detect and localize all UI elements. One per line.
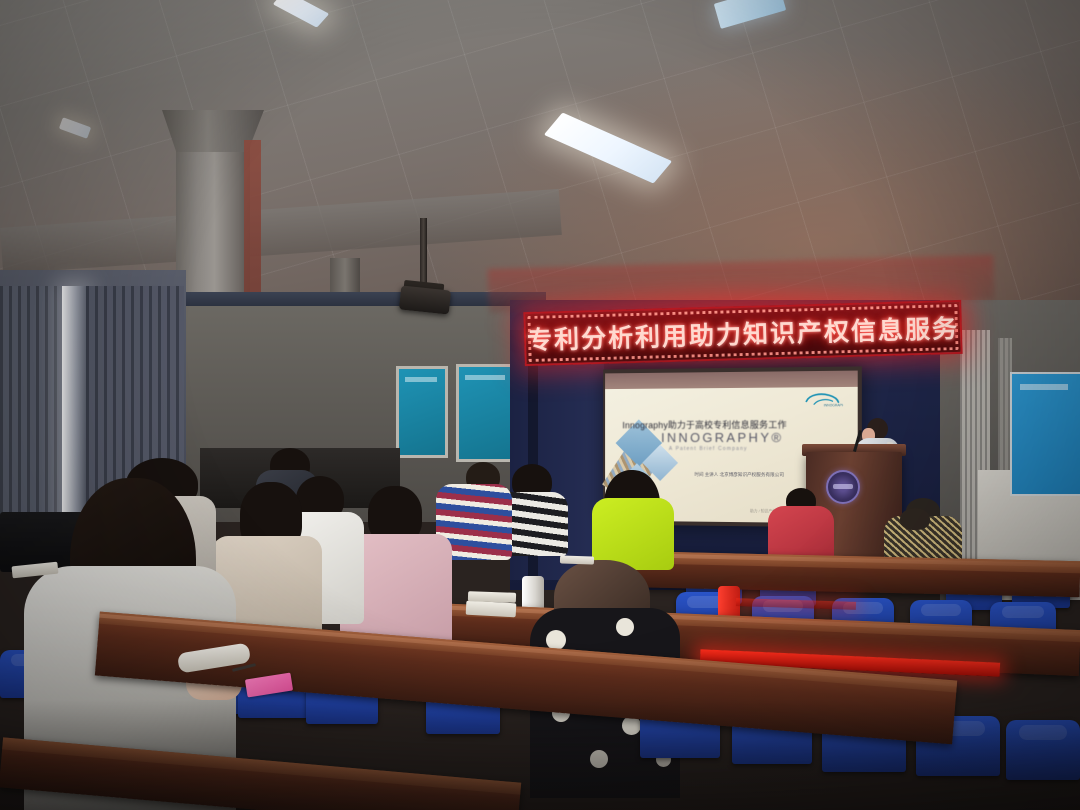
window-curtain bbox=[0, 286, 62, 548]
slide-presenter-info: 时间 主讲人 北京博彦知识产权服务有限公司 bbox=[694, 472, 784, 478]
notice-board-right bbox=[1010, 372, 1080, 496]
projector-icon bbox=[399, 285, 451, 314]
svg-text:INNOGRAPHY: INNOGRAPHY bbox=[824, 403, 843, 407]
led-banner-text: 专利分析利用助力知识产权信息服务 bbox=[525, 302, 960, 364]
stacked-papers[interactable] bbox=[468, 591, 516, 603]
desk-surface bbox=[2, 737, 521, 794]
notice-board-left bbox=[396, 366, 448, 458]
stacked-papers[interactable] bbox=[560, 555, 594, 564]
university-seal bbox=[826, 470, 860, 504]
window-light-gap bbox=[62, 286, 86, 536]
innography-logo: INNOGRAPHY bbox=[804, 391, 843, 407]
projector-mount-pole bbox=[420, 218, 427, 286]
slide-brand: INNOGRAPHY® bbox=[661, 430, 783, 445]
conference-room-photo: 专利分析利用助力知识产权信息服务 INNOGRAPHY Innography助力… bbox=[0, 0, 1080, 810]
attendee-hair bbox=[900, 508, 930, 530]
notice-board-left bbox=[456, 364, 516, 462]
stacked-papers[interactable] bbox=[466, 601, 517, 618]
slide-brand-subtitle: A Patent Brief Company bbox=[669, 446, 748, 452]
seat[interactable] bbox=[1006, 720, 1080, 780]
screen-shadow-band bbox=[605, 371, 858, 390]
